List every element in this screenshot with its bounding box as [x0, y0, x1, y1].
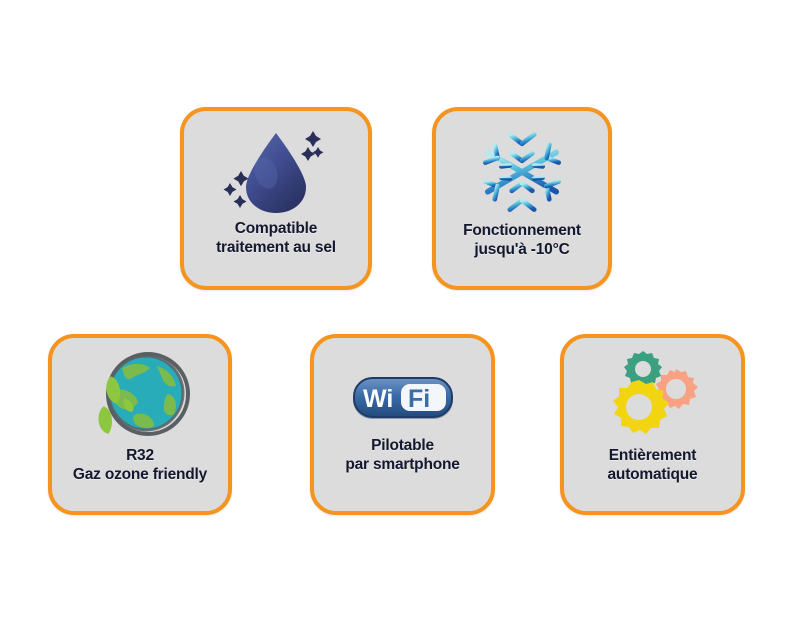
snowflake-icon — [475, 125, 569, 219]
caption-line-2: traitement au sel — [216, 238, 336, 257]
feature-card-fonctionnement-jusqua-moins-10[interactable]: Fonctionnement jusqu'à -10°C — [432, 107, 612, 290]
feature-card-caption: Entièrement automatique — [602, 446, 704, 484]
caption-line-1: Pilotable — [371, 437, 434, 454]
caption-line-1: R32 — [126, 447, 154, 464]
caption-line-1: Entièrement — [609, 447, 696, 464]
caption-line-2: automatique — [608, 465, 698, 484]
wifi-badge-icon: Wi Fi — [351, 364, 455, 434]
feature-card-compatible-traitement-au-sel[interactable]: Compatible traitement au sel — [180, 107, 372, 290]
caption-line-1: Compatible — [235, 220, 317, 237]
gears-icon — [597, 350, 709, 444]
feature-card-board: Compatible traitement au sel — [0, 0, 792, 634]
feature-card-r32-gaz-ozone-friendly[interactable]: R32 Gaz ozone friendly — [48, 334, 232, 515]
feature-card-caption: R32 Gaz ozone friendly — [67, 446, 213, 484]
feature-card-caption: Compatible traitement au sel — [210, 219, 342, 257]
globe-leaves-icon — [84, 348, 196, 444]
wifi-label-wi: Wi — [363, 385, 393, 413]
wifi-label-fi: Fi — [408, 385, 430, 413]
caption-line-2: par smartphone — [345, 455, 459, 474]
feature-card-caption: Fonctionnement jusqu'à -10°C — [457, 221, 587, 259]
caption-line-1: Fonctionnement — [463, 222, 581, 239]
feature-card-caption: Pilotable par smartphone — [339, 436, 465, 474]
caption-line-2: Gaz ozone friendly — [73, 465, 207, 484]
feature-card-pilotable-par-smartphone[interactable]: Wi Fi Pilotable par smartphone — [310, 334, 495, 515]
feature-card-entierement-automatique[interactable]: Entièrement automatique — [560, 334, 745, 515]
caption-line-2: jusqu'à -10°C — [463, 240, 581, 259]
water-drop-sparkle-icon — [220, 125, 332, 217]
